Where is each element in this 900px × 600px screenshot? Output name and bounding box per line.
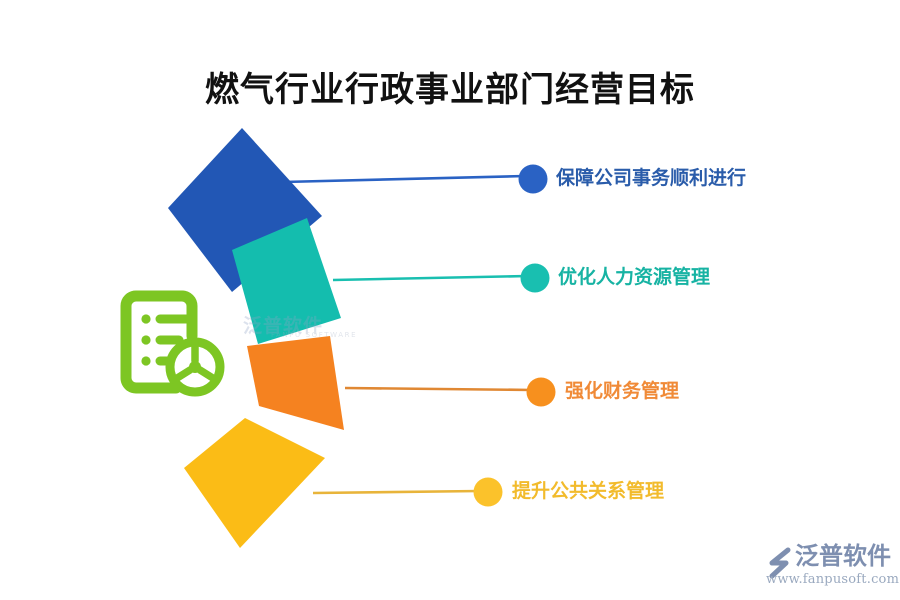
brand-name: 泛普软件 [795, 536, 891, 571]
connector-line-2 [333, 276, 527, 280]
infographic-graphics [0, 0, 900, 600]
brand-name-row: 泛普软件 [766, 536, 891, 571]
item-label-1: 保障公司事务顺利进行 [556, 169, 746, 188]
connector-line-1 [283, 176, 525, 182]
endpoint-dot-1 [519, 165, 548, 194]
diamond-shape-4 [184, 418, 325, 548]
item-label-2: 优化人力资源管理 [558, 268, 710, 287]
connector-line-3 [345, 388, 533, 390]
endpoint-dot-3 [527, 378, 556, 407]
endpoint-dot-4 [474, 478, 503, 507]
brand-url: www.fanpusoft.com [766, 572, 891, 587]
brand-swoosh-icon [766, 541, 791, 567]
diamond-shape-3 [247, 336, 344, 430]
infographic-canvas: 燃气行业行政事业部门经营目标 [0, 0, 900, 600]
document-checklist-steering-wheel-icon [126, 296, 220, 392]
item-label-4: 提升公共关系管理 [512, 482, 664, 501]
endpoint-dot-2 [521, 264, 550, 293]
item-label-3: 强化财务管理 [565, 382, 679, 401]
connector-line-4 [313, 491, 480, 493]
brand-logo: 泛普软件 www.fanpusoft.com [766, 536, 891, 592]
